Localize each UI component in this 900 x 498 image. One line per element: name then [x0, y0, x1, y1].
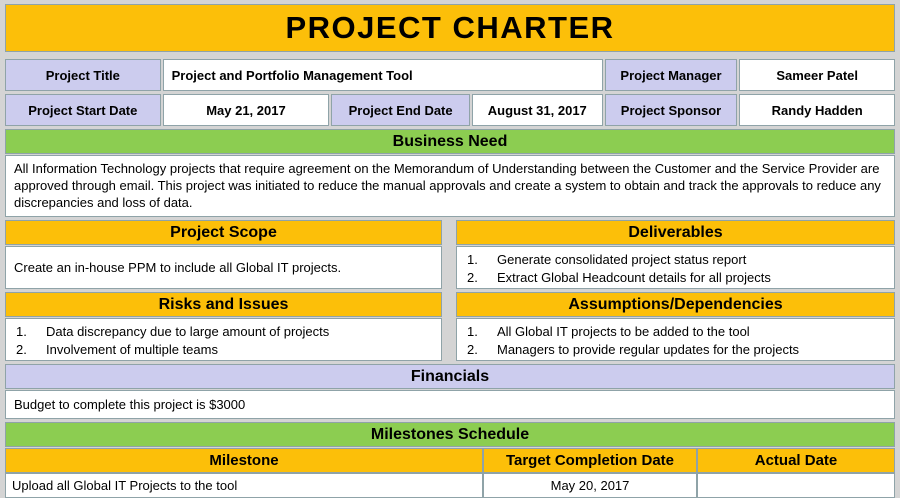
milestones-header: Milestones Schedule — [5, 422, 895, 447]
list-item: All Global IT projects to be added to th… — [461, 323, 888, 341]
list-text: Managers to provide regular updates for … — [497, 341, 799, 359]
column-header-milestone: Milestone — [5, 448, 483, 473]
project-end-date-label: Project End Date — [331, 94, 470, 126]
list-number — [461, 323, 497, 341]
business-need-text: All Information Technology projects that… — [14, 160, 886, 211]
list-text: Involvement of multiple teams — [46, 341, 218, 359]
list-item: Involvement of multiple teams — [10, 341, 435, 359]
list-item: Generate consolidated project status rep… — [461, 251, 888, 269]
list-text: Data discrepancy due to large amount of … — [46, 323, 329, 341]
risks-assumptions-band: Risks and Issues Data discrepancy due to… — [5, 292, 895, 361]
risks-heading: Risks and Issues — [159, 296, 289, 314]
assumptions-header: Assumptions/Dependencies — [456, 292, 895, 317]
milestones-table-header-row: Milestone Target Completion Date Actual … — [5, 448, 895, 473]
project-scope-column: Project Scope Create an in-house PPM to … — [5, 220, 442, 289]
project-sponsor-label: Project Sponsor — [605, 94, 738, 126]
project-scope-body: Create an in-house PPM to include all Gl… — [5, 246, 442, 289]
list-number — [461, 251, 497, 269]
column-header-actual-date: Actual Date — [697, 448, 895, 473]
list-number — [10, 323, 46, 341]
list-item: Managers to provide regular updates for … — [461, 341, 888, 359]
financials-heading: Financials — [411, 368, 489, 386]
project-end-date-value[interactable]: August 31, 2017 — [472, 94, 603, 126]
assumptions-heading: Assumptions/Dependencies — [568, 296, 782, 314]
column-header-target-completion-date: Target Completion Date — [483, 448, 697, 473]
scope-deliverables-band: Project Scope Create an in-house PPM to … — [5, 220, 895, 289]
financials-header: Financials — [5, 364, 895, 389]
page-title: PROJECT CHARTER — [285, 10, 614, 46]
project-charter-page: PROJECT CHARTER Project Title Project an… — [0, 0, 900, 491]
project-title-label: Project Title — [5, 59, 161, 91]
risks-list: Data discrepancy due to large amount of … — [6, 319, 441, 363]
charter-sheet: PROJECT CHARTER Project Title Project an… — [5, 4, 895, 498]
list-text: All Global IT projects to be added to th… — [497, 323, 750, 341]
info-row-1: Project Title Project and Portfolio Mana… — [5, 59, 895, 91]
project-scope-header: Project Scope — [5, 220, 442, 245]
milestones-heading: Milestones Schedule — [371, 426, 529, 444]
project-scope-heading: Project Scope — [170, 224, 277, 242]
list-text: Extract Global Headcount details for all… — [497, 269, 771, 287]
list-text: Generate consolidated project status rep… — [497, 251, 746, 269]
project-scope-text: Create an in-house PPM to include all Gl… — [14, 260, 341, 275]
list-number — [461, 341, 497, 359]
risks-column: Risks and Issues Data discrepancy due to… — [5, 292, 442, 361]
deliverables-heading: Deliverables — [628, 224, 722, 242]
financials-body: Budget to complete this project is $3000 — [5, 390, 895, 419]
spacer — [5, 52, 895, 56]
project-start-date-label: Project Start Date — [5, 94, 161, 126]
risks-body: Data discrepancy due to large amount of … — [5, 318, 442, 361]
project-manager-label: Project Manager — [605, 59, 738, 91]
cell-target-completion-date[interactable]: May 20, 2017 — [483, 473, 697, 498]
business-need-body: All Information Technology projects that… — [5, 155, 895, 217]
financials-text: Budget to complete this project is $3000 — [14, 396, 245, 413]
deliverables-body: Generate consolidated project status rep… — [456, 246, 895, 289]
list-number — [10, 341, 46, 359]
list-item: Extract Global Headcount details for all… — [461, 269, 888, 287]
deliverables-list: Generate consolidated project status rep… — [457, 247, 894, 291]
column-gutter — [442, 292, 456, 361]
cell-actual-date[interactable] — [697, 473, 895, 498]
deliverables-header: Deliverables — [456, 220, 895, 245]
project-sponsor-value[interactable]: Randy Hadden — [739, 94, 895, 126]
info-row-2: Project Start Date May 21, 2017 Project … — [5, 94, 895, 126]
table-row[interactable]: Upload all Global IT Projects to the too… — [5, 473, 895, 498]
assumptions-body: All Global IT projects to be added to th… — [456, 318, 895, 361]
risks-header: Risks and Issues — [5, 292, 442, 317]
list-item: Data discrepancy due to large amount of … — [10, 323, 435, 341]
project-manager-value[interactable]: Sameer Patel — [739, 59, 895, 91]
cell-milestone[interactable]: Upload all Global IT Projects to the too… — [5, 473, 483, 498]
assumptions-column: Assumptions/Dependencies All Global IT p… — [456, 292, 895, 361]
deliverables-column: Deliverables Generate consolidated proje… — [456, 220, 895, 289]
project-title-value[interactable]: Project and Portfolio Management Tool — [163, 59, 603, 91]
business-need-heading: Business Need — [393, 133, 508, 151]
column-gutter — [442, 220, 456, 289]
document-title-banner: PROJECT CHARTER — [5, 4, 895, 52]
list-number — [461, 269, 497, 287]
assumptions-list: All Global IT projects to be added to th… — [457, 319, 894, 363]
business-need-header: Business Need — [5, 129, 895, 154]
project-start-date-value[interactable]: May 21, 2017 — [163, 94, 330, 126]
